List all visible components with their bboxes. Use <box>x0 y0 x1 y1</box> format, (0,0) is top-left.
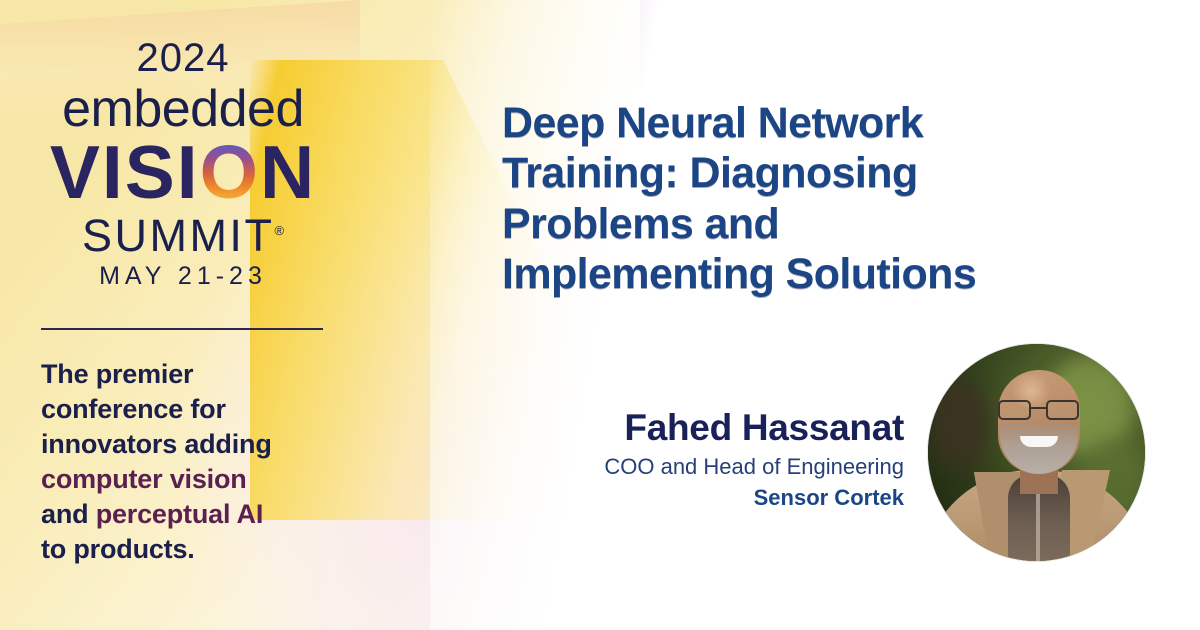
logo-vision-word: VISION <box>41 135 325 210</box>
logo-vision-gradient-o: O <box>200 135 260 210</box>
tagline-line-5: to products. <box>41 534 195 564</box>
speaker-portrait <box>928 344 1145 561</box>
logo-vision-suffix: N <box>260 135 316 210</box>
logo-summit-text: SUMMIT <box>82 210 274 261</box>
tagline-line-3: innovators adding <box>41 429 272 459</box>
speaker-name: Fahed Hassanat <box>500 408 904 448</box>
eyeglass-bridge <box>1031 407 1046 409</box>
portrait-zipper <box>1036 494 1040 561</box>
session-title-line-2: Training: Diagnosing <box>502 149 918 197</box>
logo-summit-row: SUMMIT® <box>41 210 325 259</box>
session-title-line-4: Implementing Solutions <box>502 250 976 298</box>
logo-event-dates: MAY 21-23 <box>41 261 325 291</box>
tagline-line-1: The premier <box>41 359 193 389</box>
speaker-info-block: Fahed Hassanat COO and Head of Engineeri… <box>500 408 904 512</box>
session-title-line-3: Problems and <box>502 200 779 248</box>
divider-rule <box>41 328 323 330</box>
eyeglass-lens-left <box>998 400 1031 420</box>
speaker-role: COO and Head of Engineering <box>500 452 904 482</box>
session-title-line-1: Deep Neural Network <box>502 99 923 147</box>
logo-embedded-word: embedded <box>41 82 325 137</box>
tagline-line-4-and: and <box>41 499 96 529</box>
speaker-company: Sensor Cortek <box>500 484 904 513</box>
embedded-vision-summit-logo: 2024 embedded VISION SUMMIT® MAY 21-23 <box>41 38 325 291</box>
portrait-smile <box>1020 436 1058 447</box>
logo-year: 2024 <box>41 38 325 78</box>
logo-summit-word: SUMMIT® <box>82 212 284 259</box>
session-title: Deep Neural Network Training: Diagnosing… <box>502 98 1170 299</box>
tagline-accent-perceptual-ai: perceptual AI <box>96 499 263 529</box>
registered-trademark-icon: ® <box>274 223 284 238</box>
event-promo-banner: 2024 embedded VISION SUMMIT® MAY 21-23 T… <box>0 0 1200 630</box>
tagline-line-2: conference for <box>41 394 226 424</box>
portrait-eyeglasses <box>996 400 1082 420</box>
conference-tagline: The premier conference for innovators ad… <box>41 357 371 568</box>
logo-vision-prefix: VISI <box>50 135 200 210</box>
portrait-foliage-blur-c <box>930 378 990 470</box>
tagline-accent-computer-vision: computer vision <box>41 464 247 494</box>
eyeglass-lens-right <box>1046 400 1079 420</box>
